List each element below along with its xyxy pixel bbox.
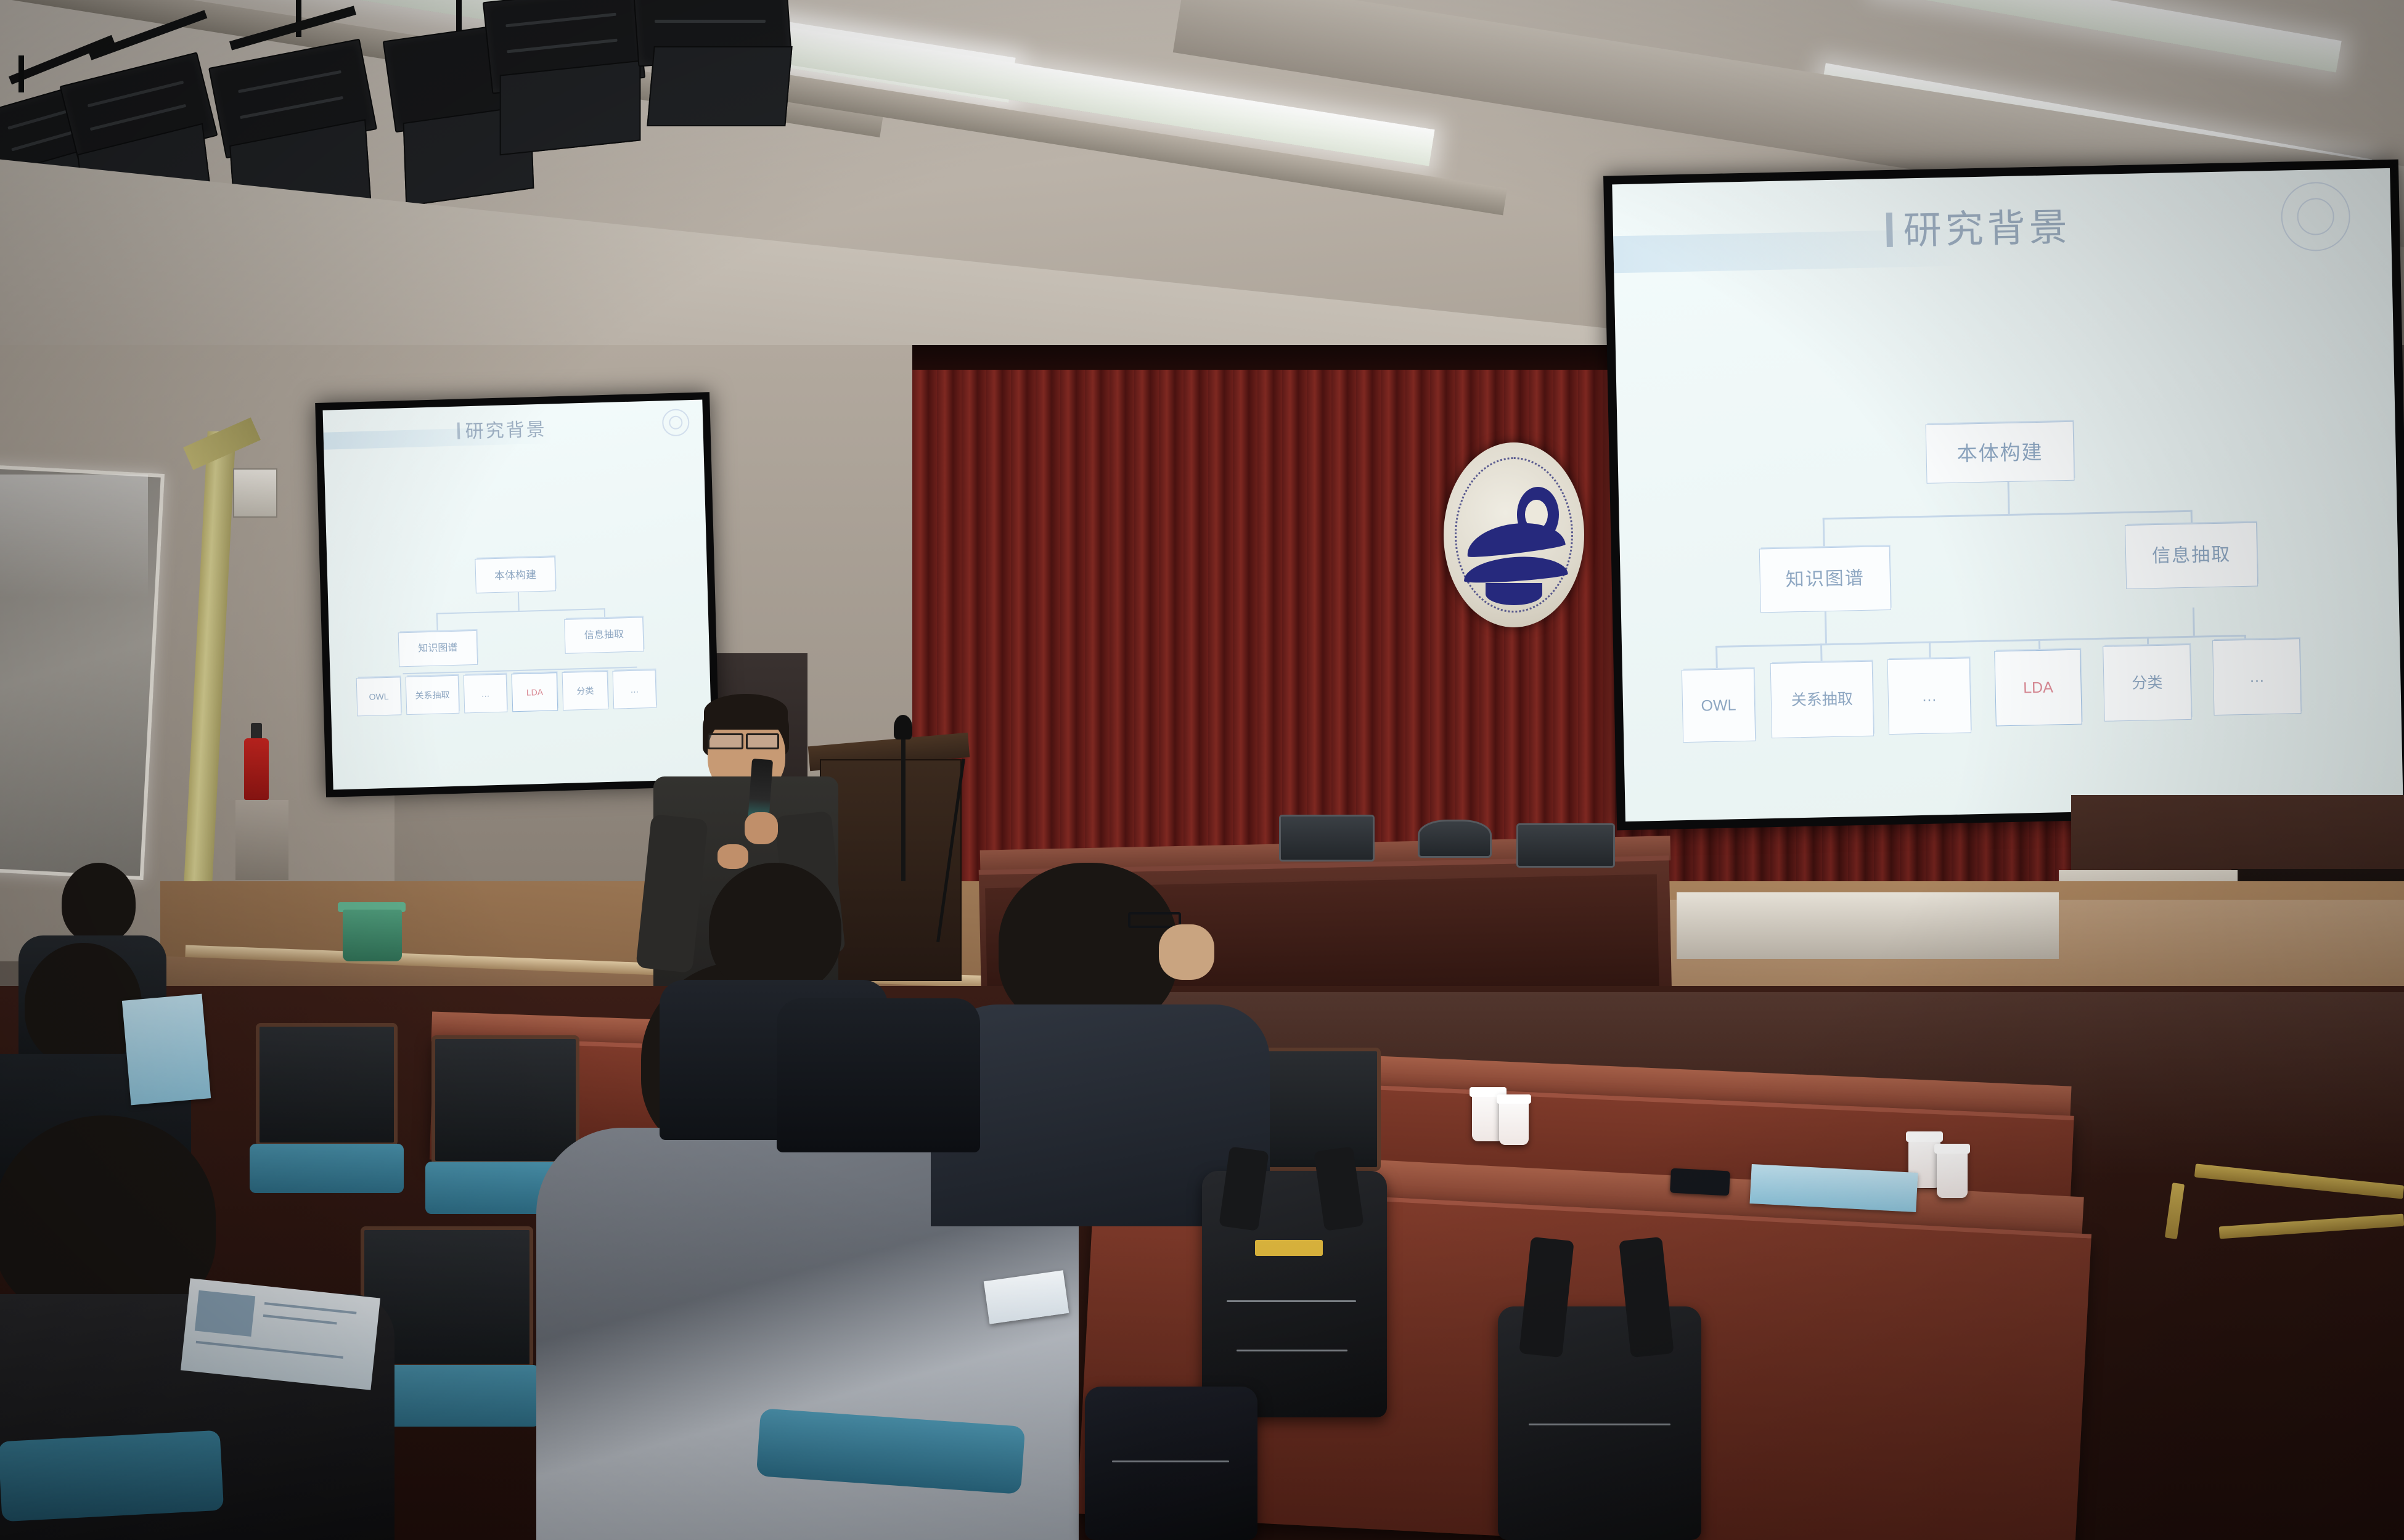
microphone-stand xyxy=(901,727,906,881)
backpack xyxy=(1498,1306,1701,1540)
panel-chair xyxy=(1418,820,1492,858)
wall-speaker xyxy=(233,468,277,518)
paper-cup xyxy=(1937,1144,1968,1198)
paper-cup xyxy=(1499,1094,1529,1145)
emblem-boat xyxy=(1486,583,1542,605)
diagram-node: … xyxy=(2212,638,2302,715)
diagram-connector xyxy=(2193,608,2195,636)
smartphone xyxy=(1670,1168,1730,1196)
diagram-node: 信息抽取 xyxy=(564,617,644,654)
chair-seat xyxy=(0,1430,224,1522)
diagram-node: … xyxy=(464,674,508,714)
attendee-rear-right xyxy=(777,943,980,1146)
backpack xyxy=(1085,1387,1257,1540)
diagram-connector xyxy=(436,608,604,614)
backpack-zipper xyxy=(1112,1461,1229,1462)
window-glare xyxy=(0,475,148,598)
binder-thumbnail xyxy=(195,1290,255,1337)
cup-rim xyxy=(1906,1131,1943,1142)
diagram-node: OWL xyxy=(1682,669,1756,743)
glasses xyxy=(746,733,779,749)
fire-extinguisher xyxy=(244,738,269,800)
diagram-node: 本体构建 xyxy=(475,556,556,593)
cup-rim xyxy=(1497,1094,1531,1104)
stage-storage-boxes xyxy=(1677,892,2059,959)
attendee-hand xyxy=(1159,924,1214,980)
title-bar-accent xyxy=(1886,213,1893,247)
extinguisher-stand xyxy=(235,800,288,880)
speaker-hair-top xyxy=(704,694,788,730)
binder-text-line xyxy=(196,1341,343,1359)
diagram-node: 关系抽取 xyxy=(1770,661,1875,738)
panel-chair xyxy=(1516,823,1615,868)
slide-logo xyxy=(2280,181,2350,251)
secondary-slide-title: 研究背景 xyxy=(457,414,547,444)
lectern-microphone xyxy=(894,715,912,739)
diagram-connector xyxy=(436,613,438,632)
backpack-zipper xyxy=(1529,1424,1670,1425)
binder-text-line xyxy=(263,1314,337,1325)
diagram-node: 知识图谱 xyxy=(1759,546,1891,613)
handout-binder xyxy=(181,1278,380,1390)
waste-bin xyxy=(343,910,402,961)
lecture-hall-photo: 研究背景 本体构建 知识图谱 信息抽取 OWL 关系抽取 … LDA 分类 … xyxy=(0,0,2404,1540)
binder-text-line xyxy=(264,1302,357,1314)
secondary-slide-logo xyxy=(662,409,690,436)
diagram-node-accent: LDA xyxy=(512,672,558,712)
backpack-zipper xyxy=(1227,1300,1356,1302)
diagram-node: 关系抽取 xyxy=(406,675,460,715)
diagram-node: … xyxy=(1887,658,1972,735)
cup-rim xyxy=(1934,1144,1970,1154)
backpack-zipper xyxy=(1237,1350,1347,1351)
university-emblem-on-curtain xyxy=(1444,442,1584,627)
diagram-node: 分类 xyxy=(2103,645,2192,722)
diagram-node: 分类 xyxy=(562,671,609,711)
diagram-node: OWL xyxy=(356,677,402,716)
diagram-connector xyxy=(1715,646,1718,669)
attendee-torso xyxy=(777,998,980,1152)
diagram-connector xyxy=(2008,481,2010,514)
diagram-node: 信息抽取 xyxy=(2125,523,2258,589)
panel-chair xyxy=(1279,815,1375,862)
title-bar-accent xyxy=(457,423,460,439)
slide-title: 研究背景 xyxy=(1886,196,2071,255)
diagram-connector xyxy=(1825,611,1827,643)
diagram-node-accent: LDA xyxy=(1994,650,2082,727)
backpack xyxy=(1202,1171,1387,1417)
diagram-node: 知识图谱 xyxy=(398,630,478,667)
diagram-connector xyxy=(1823,518,1825,547)
speaker-hand-mic xyxy=(745,812,778,844)
diagram-node-root: 本体构建 xyxy=(1926,422,2075,484)
backpack-tag xyxy=(1255,1240,1323,1256)
main-screen-surface: 研究背景 本体构建 知识图谱 信息抽取 OWL 关系抽取 xyxy=(1612,168,2403,821)
main-projection-screen: 研究背景 本体构建 知识图谱 信息抽取 OWL 关系抽取 xyxy=(1603,160,2404,831)
glasses xyxy=(708,733,743,749)
par-can-stage-light xyxy=(635,0,838,166)
handout-booklet xyxy=(122,994,211,1106)
attendee-head xyxy=(0,1115,216,1319)
attendee-head xyxy=(62,863,136,943)
diagram-connector xyxy=(518,590,520,611)
